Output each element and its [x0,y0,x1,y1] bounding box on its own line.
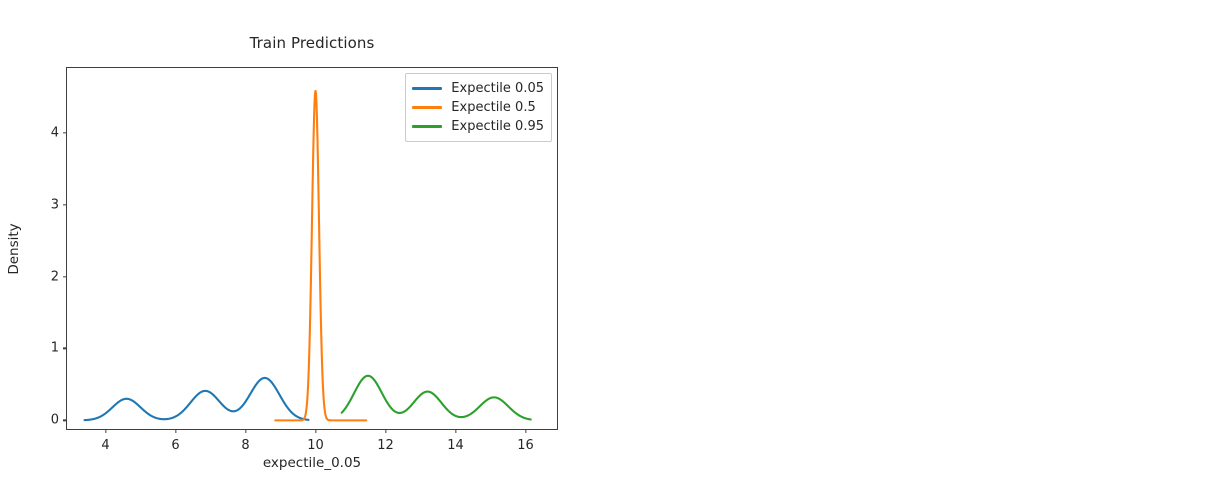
legend-label-expectile-095: Expectile 0.95 [451,119,544,134]
plot-area-train: 4681012141601234 Expectile 0.05 Expectil… [66,67,558,430]
density-curve [342,376,531,420]
x-tick-mark [245,429,246,433]
x-tick-label: 12 [377,438,394,453]
x-tick-mark [105,429,106,433]
y-tick-mark [63,132,67,133]
legend-label-expectile-005: Expectile 0.05 [451,81,544,96]
x-tick-label: 6 [171,438,179,453]
x-tick-label: 10 [307,438,324,453]
y-axis-label-train: Density [6,223,22,274]
x-tick-mark [525,429,526,433]
legend-item: Expectile 0.95 [412,117,544,136]
x-axis-label-train: expectile_0.05 [66,455,558,471]
legend-train: Expectile 0.05 Expectile 0.5 Expectile 0… [405,73,552,142]
x-tick-mark [455,429,456,433]
page-title-train: Train Predictions [66,34,558,52]
y-tick-label: 2 [51,269,59,284]
y-tick-label: 0 [51,413,59,428]
y-tick-mark [63,204,67,205]
y-tick-label: 1 [51,341,59,356]
legend-swatch-expectile-005 [412,87,442,89]
density-curve [84,378,308,420]
legend-swatch-expectile-05 [412,106,442,108]
x-tick-label: 16 [517,438,534,453]
legend-label-expectile-05: Expectile 0.5 [451,100,535,115]
x-tick-mark [315,429,316,433]
legend-item: Expectile 0.05 [412,79,544,98]
y-tick-mark [63,420,67,421]
legend-swatch-expectile-095 [412,125,442,127]
panel-test-predictions: Test Predictions Density 468101214160123… [610,0,1220,489]
legend-item: Expectile 0.5 [412,98,544,117]
figure-canvas: Train Predictions Density 46810121416012… [0,0,1220,489]
panel-train-predictions: Train Predictions Density 46810121416012… [0,0,610,489]
x-tick-label: 4 [101,438,109,453]
x-tick-label: 8 [241,438,249,453]
x-tick-mark [175,429,176,433]
x-tick-mark [385,429,386,433]
density-curve [275,91,366,420]
y-tick-label: 4 [51,125,59,140]
y-tick-mark [63,276,67,277]
x-tick-label: 14 [447,438,464,453]
y-tick-mark [63,348,67,349]
y-tick-label: 3 [51,197,59,212]
